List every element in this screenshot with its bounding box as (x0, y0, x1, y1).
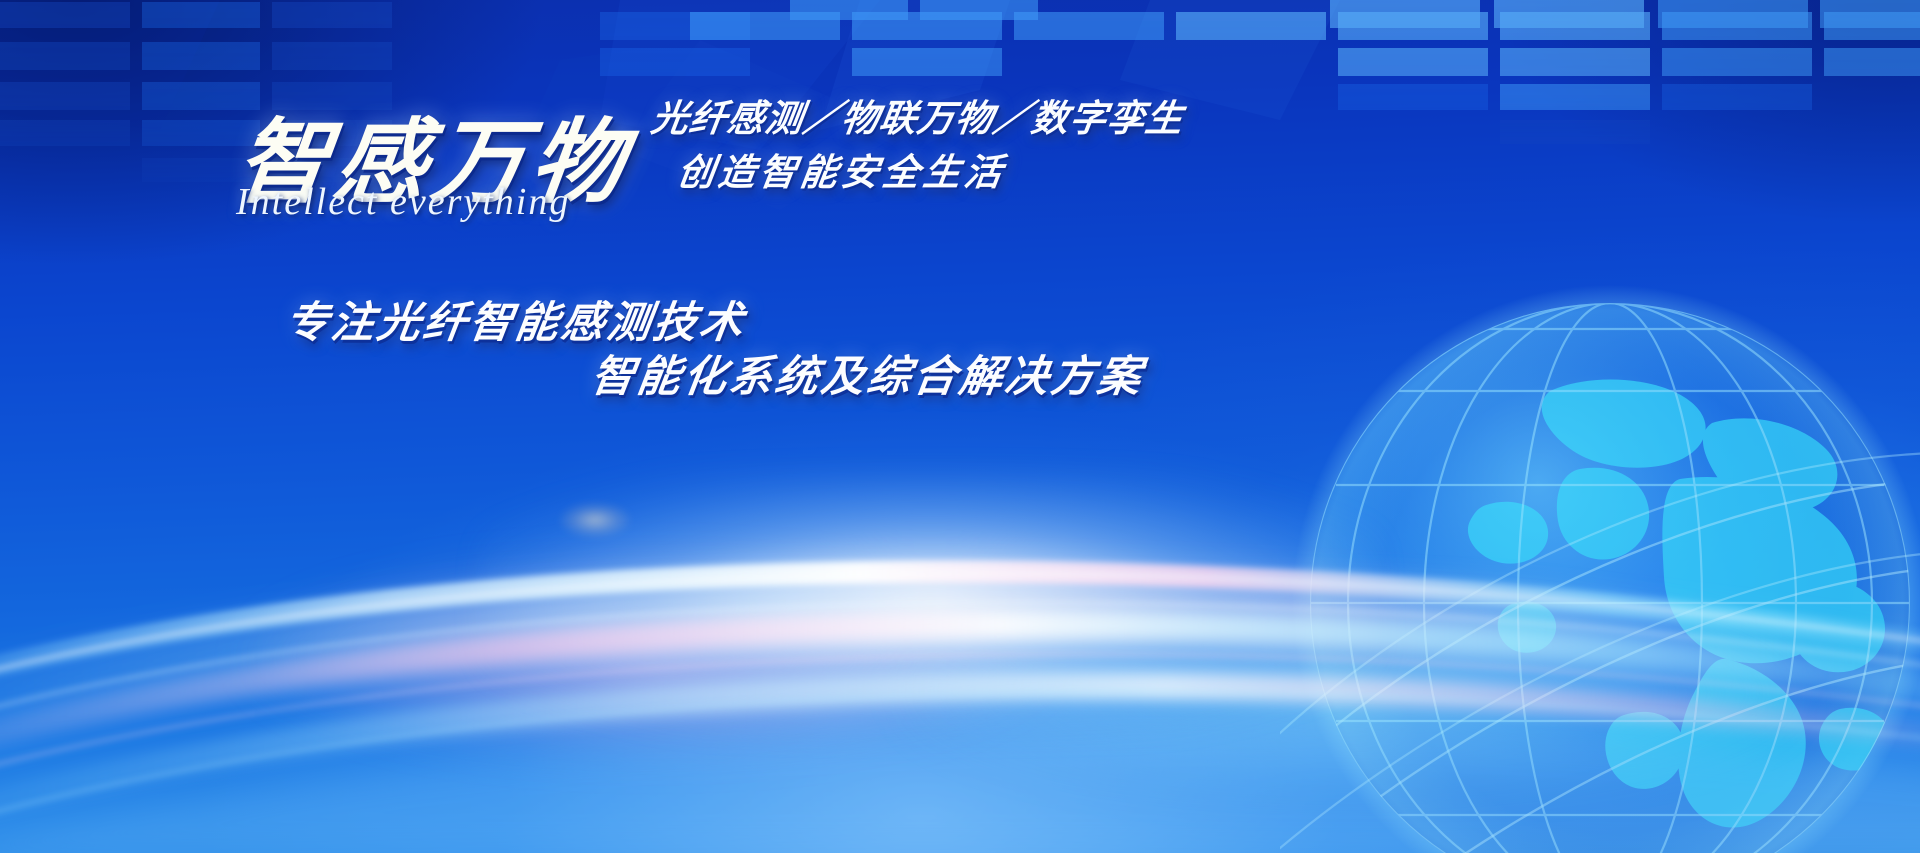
banner-root: 智感万物 Intellect everything 光纤感测／物联万物／数字孪生… (0, 0, 1920, 853)
page-subtitle-english: Intellect everything (236, 180, 570, 224)
tagline-mission: 创造智能安全生活 (674, 142, 1010, 196)
slogan-solutions: 智能化系统及综合解决方案 (588, 342, 1149, 404)
slogan-technology-focus: 专注光纤智能感测技术 (282, 288, 751, 350)
tagline-services: 光纤感测／物联万物／数字孪生 (648, 88, 1188, 142)
text-layer: 智感万物 Intellect everything 光纤感测／物联万物／数字孪生… (0, 0, 1920, 853)
